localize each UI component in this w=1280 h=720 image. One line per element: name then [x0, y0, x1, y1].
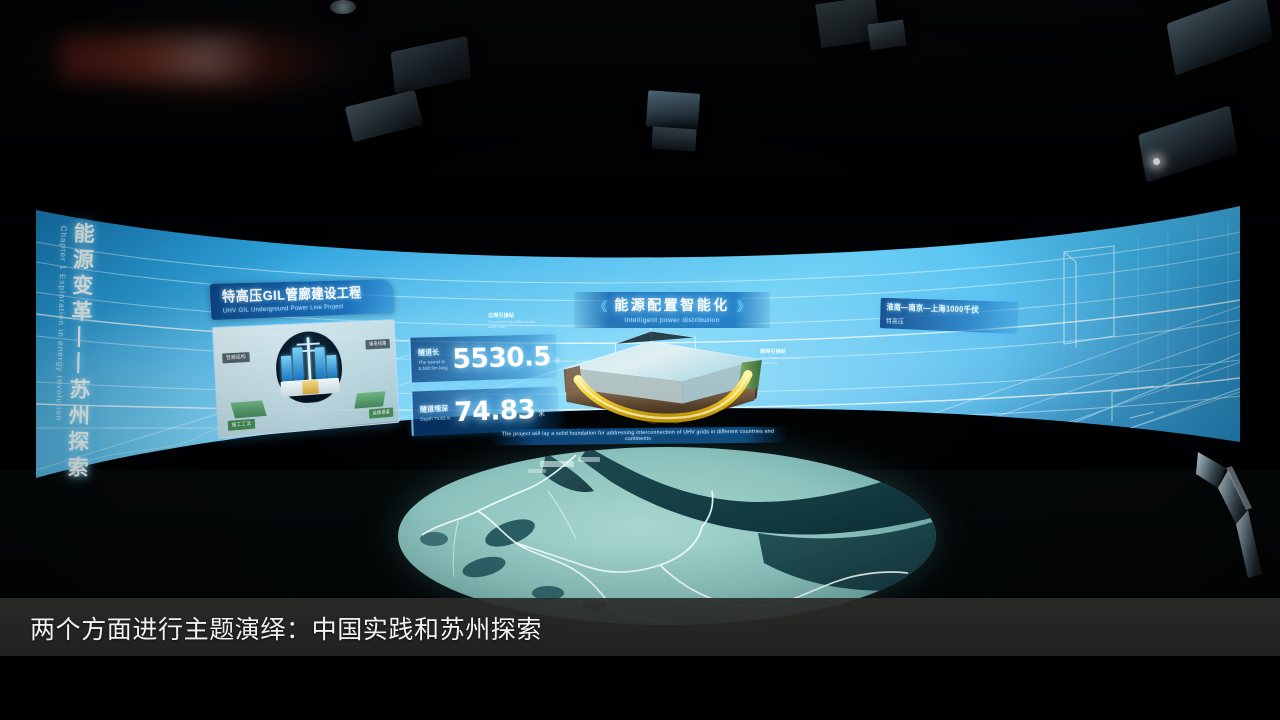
- river-crossing-tunnel-3d: [555, 326, 771, 432]
- xsec-callout-north: 北岸引接站 The connecting station on the nort…: [488, 312, 536, 330]
- stat-2-value: 74.83: [454, 396, 536, 426]
- ceiling-projector-5: [1138, 105, 1238, 182]
- stat-1-label-en: The tunnel is 5,530.5m long: [418, 359, 452, 372]
- chapter-title-zh: 能源变革——苏州探索: [65, 222, 94, 482]
- ceiling-projector-1: [391, 36, 472, 94]
- gil-callout-2-zh: 输电线路: [369, 341, 387, 348]
- subtitle-text: 两个方面进行主题演绎：中国实践和苏州探索: [30, 610, 542, 646]
- section-title-bar: 《 能源配置智能化 》 Intelligent power distributi…: [574, 292, 770, 328]
- screenshot-root: 能源变革——苏州探索 Chapter 1 Exploration in ener…: [0, 0, 1280, 720]
- stand-svg: [1196, 448, 1274, 578]
- tunnel-invert: [280, 378, 339, 397]
- ceiling: [0, 0, 1280, 215]
- chapter-title: 能源变革——苏州探索 Chapter 1 Exploration in ener…: [53, 222, 94, 483]
- gil-callout-3: 施工工法: [228, 419, 256, 431]
- section-title-intelligent-power: 《 能源配置智能化 》 Intelligent power distributi…: [574, 292, 770, 328]
- gil-callout-3-zh: 施工工法: [231, 421, 251, 429]
- gil-card-header: 特高压GIL管廊建设工程 UHV GIL Underground Power L…: [210, 279, 394, 320]
- gil-cross-section-diagram: 管廊结构 输电线路 施工工法 运维通道: [212, 319, 400, 439]
- gil-duct-2: [292, 347, 304, 380]
- ceiling-projector-3: [646, 90, 700, 130]
- ceiling-mount-bracket: [651, 126, 696, 151]
- tunnel-bore: [274, 330, 343, 405]
- gil-callout-4: 运维通道: [369, 407, 393, 419]
- gil-duct-4: [326, 355, 337, 378]
- uhv-line-label-line2: 特高压: [886, 315, 1011, 330]
- stat-1-value: 5530.5: [452, 343, 551, 373]
- xsec-callout-north-en: The connecting station on the north bank: [488, 320, 536, 330]
- stat-2-unit: 米: [538, 409, 545, 419]
- stat-2-label-en: Depth 74.83 m: [420, 415, 454, 422]
- blurred-logo-glow: [60, 36, 265, 80]
- bracket-right-icon: 》: [737, 295, 750, 314]
- gil-callout-2: 输电线路: [365, 339, 390, 350]
- xsec-callout-north-zh: 北岸引接站: [488, 312, 536, 319]
- stat-2-label: 隧道埋深 Depth 74.83 m: [420, 403, 455, 422]
- metallic-railing-post: [1196, 448, 1274, 578]
- gil-duct-1: [281, 356, 292, 382]
- cable-tray-icon: [302, 380, 319, 395]
- section-title-zh: 能源配置智能化: [614, 295, 729, 315]
- stat-1-label: 隧道长 The tunnel is 5,530.5m long: [418, 347, 453, 372]
- subtitle-bar: 两个方面进行主题演绎：中国实践和苏州探索: [0, 598, 1280, 656]
- gil-project-card[interactable]: 特高压GIL管廊建设工程 UHV GIL Underground Power L…: [210, 279, 400, 443]
- stat-1-label-zh: 隧道长: [418, 347, 452, 358]
- gil-duct-3: [314, 347, 325, 379]
- gil-callout-1: 管廊结构: [222, 352, 250, 364]
- letterbox-bottom: [0, 656, 1280, 720]
- led-indicator-icon: [1153, 158, 1160, 165]
- terrain-right: [354, 391, 385, 408]
- tunnel-3d-svg: [555, 326, 771, 432]
- xsec-caption: The project will lay a solid foundation …: [488, 426, 788, 445]
- stat-2-label-zh: 隧道埋深: [420, 403, 454, 414]
- gil-callout-4-zh: 运维通道: [372, 409, 390, 416]
- gil-callout-1-zh: 管廊结构: [226, 354, 246, 361]
- uhv-line-label-line1: 淮南—南京—上海1000千伏: [886, 302, 1011, 317]
- terrain-left: [230, 400, 266, 418]
- section-title-row: 《 能源配置智能化 》: [574, 295, 770, 315]
- ceiling-projector-4: [1167, 0, 1274, 76]
- ceiling-projector-2: [345, 90, 424, 142]
- ceiling-light-icon: [330, 0, 356, 14]
- ceiling-speaker-2: [867, 20, 906, 51]
- stat-tunnel-length: 隧道长 The tunnel is 5,530.5m long 5530.5 米: [408, 334, 557, 382]
- uhv-line-label[interactable]: 淮南—南京—上海1000千伏 特高压: [880, 298, 1019, 334]
- section-title-en: Intelligent power distribution: [574, 317, 770, 324]
- bracket-left-icon: 《: [594, 296, 607, 315]
